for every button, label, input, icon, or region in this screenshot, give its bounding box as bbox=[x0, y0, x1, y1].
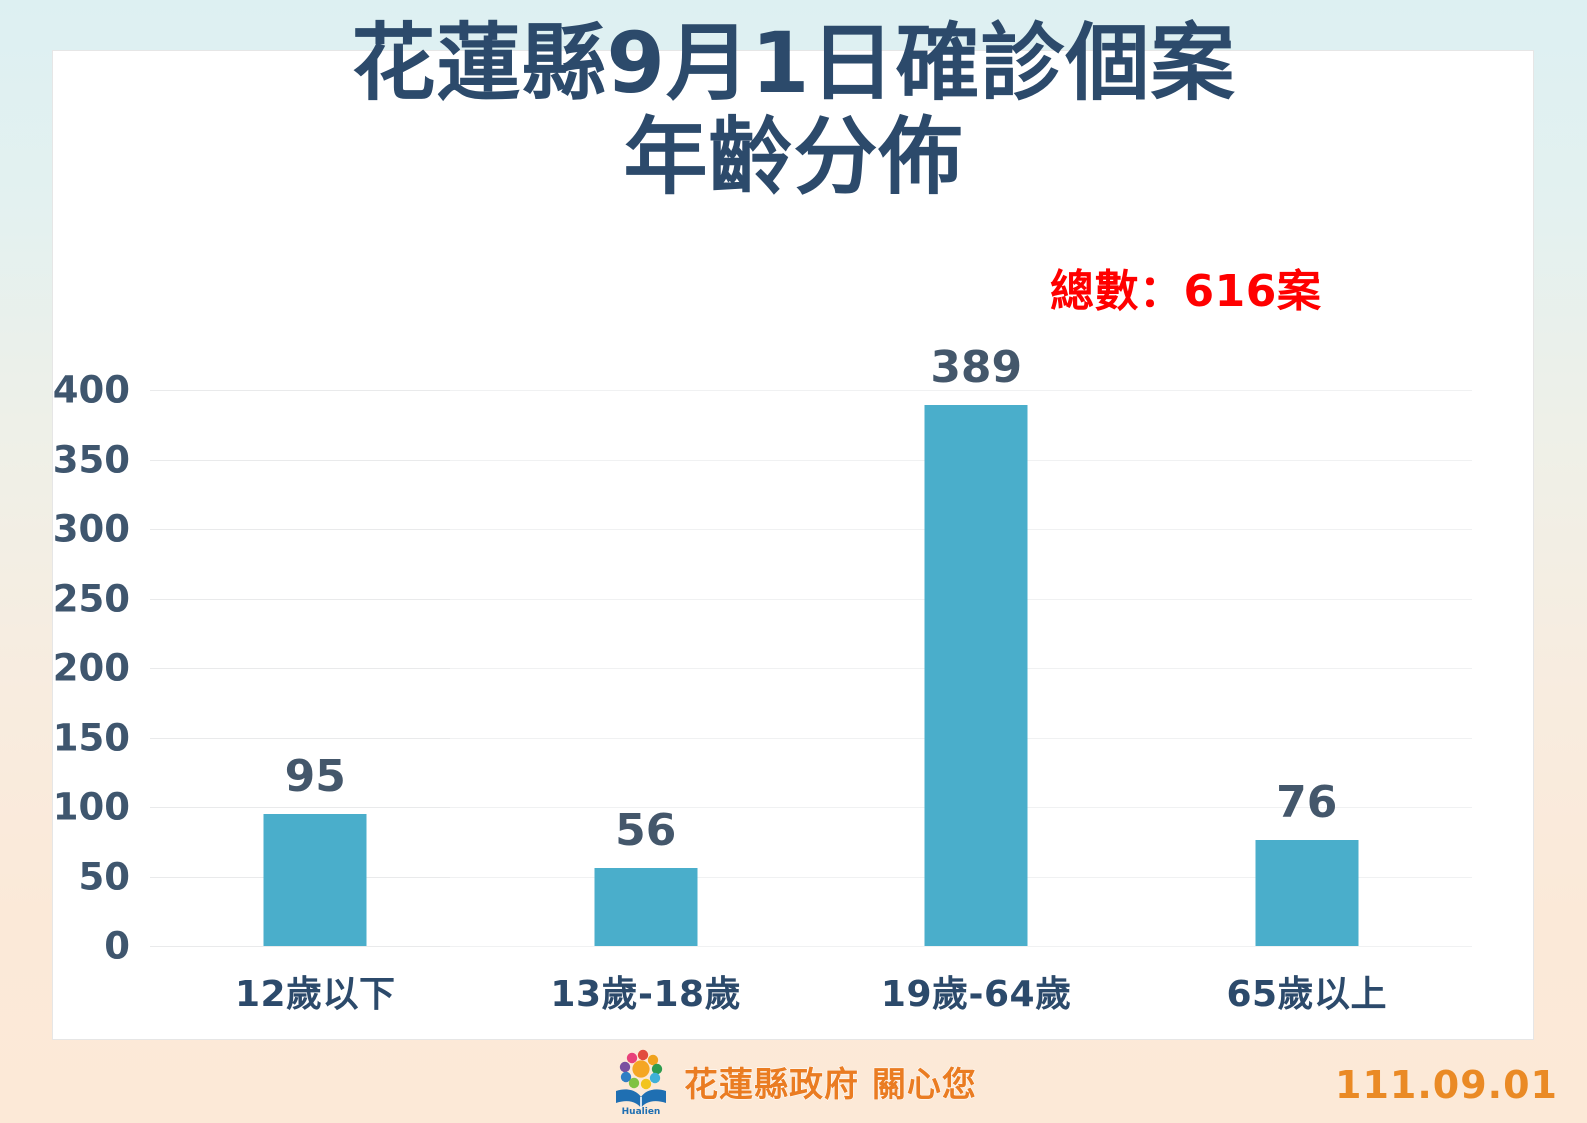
bar[interactable] bbox=[594, 868, 697, 946]
bar[interactable] bbox=[925, 405, 1028, 946]
bar-value-label: 389 bbox=[930, 342, 1022, 393]
total-count-badge: 總數：616案 bbox=[1050, 255, 1321, 319]
bar-group: 7665歲以上 bbox=[1142, 390, 1473, 946]
poster-page: 花蓮縣9月1日確診個案 年齡分佈 總數：616案 400350300250200… bbox=[0, 0, 1587, 1123]
y-axis-tick-label: 350 bbox=[20, 438, 130, 481]
x-axis-category-label: 13歲-18歲 bbox=[550, 965, 741, 1017]
y-axis-tick-label: 200 bbox=[20, 647, 130, 690]
page-title: 花蓮縣9月1日確診個案 年齡分佈 bbox=[0, 16, 1587, 204]
y-axis-tick-label: 250 bbox=[20, 577, 130, 620]
y-axis-tick-label: 0 bbox=[20, 925, 130, 968]
footer-org-text: 花蓮縣政府 關心您 bbox=[684, 1057, 977, 1106]
y-axis-tick-label: 50 bbox=[20, 855, 130, 898]
bar-group: 9512歲以下 bbox=[150, 390, 481, 946]
x-axis-category-label: 65歲以上 bbox=[1226, 965, 1387, 1017]
bar[interactable] bbox=[1255, 840, 1358, 946]
bar-value-label: 56 bbox=[615, 805, 676, 856]
y-axis-tick-label: 300 bbox=[20, 508, 130, 551]
y-axis-tick-label: 400 bbox=[20, 369, 130, 412]
footer-branding: Hualien 花蓮縣政府 關心您 bbox=[612, 1047, 977, 1115]
bar-group: 38919歲-64歲 bbox=[811, 390, 1142, 946]
bar-value-label: 95 bbox=[285, 751, 346, 802]
bar-value-label: 76 bbox=[1276, 777, 1337, 828]
title-line-1: 花蓮縣9月1日確診個案 bbox=[0, 16, 1587, 110]
x-axis-category-label: 12歲以下 bbox=[235, 965, 396, 1017]
title-line-2: 年齡分佈 bbox=[623, 110, 963, 204]
hualien-logo-icon: Hualien bbox=[612, 1047, 670, 1115]
bar-chart: 4003503002502001501005009512歲以下5613歲-18歲… bbox=[52, 355, 1534, 995]
y-axis-tick-label: 100 bbox=[20, 786, 130, 829]
bar[interactable] bbox=[264, 814, 367, 946]
gridline bbox=[150, 946, 1472, 947]
bar-group: 5613歲-18歲 bbox=[481, 390, 812, 946]
y-axis-tick-label: 150 bbox=[20, 716, 130, 759]
footer: Hualien 花蓮縣政府 關心您 111.09.01 bbox=[0, 1041, 1587, 1123]
footer-date: 111.09.01 bbox=[1335, 1063, 1558, 1107]
x-axis-category-label: 19歲-64歲 bbox=[881, 965, 1072, 1017]
plot-area: 4003503002502001501005009512歲以下5613歲-18歲… bbox=[150, 390, 1472, 947]
svg-text:Hualien: Hualien bbox=[622, 1107, 661, 1115]
